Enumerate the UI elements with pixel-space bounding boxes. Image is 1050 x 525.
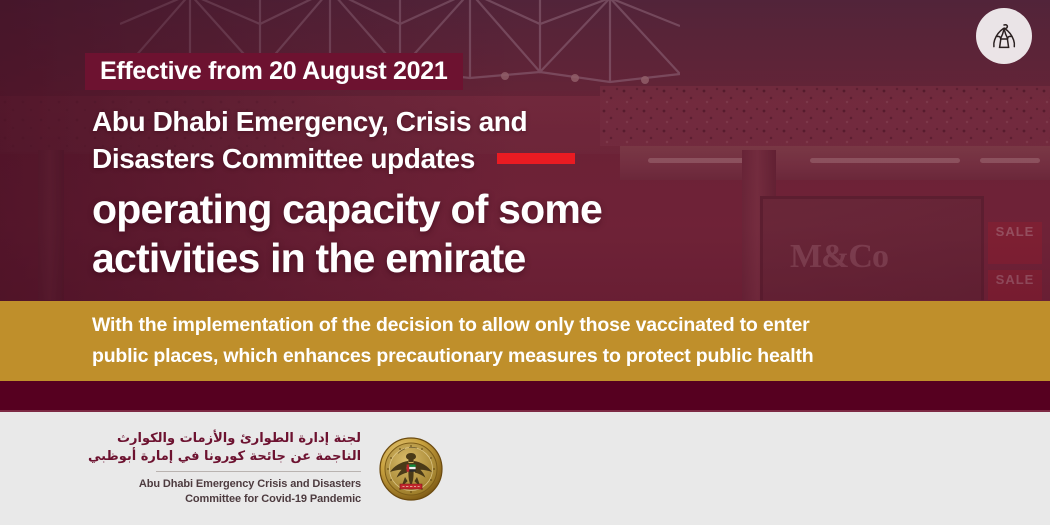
- poster-canvas: M&Co SALE SALE Effective from 20 August …: [0, 0, 1050, 525]
- committee-name-english-line-2: Committee for Covid-19 Pandemic: [88, 492, 361, 507]
- committee-name-english-line-1: Abu Dhabi Emergency Crisis and Disasters: [88, 477, 361, 492]
- maroon-divider-strip: [0, 381, 1050, 411]
- footer-bar: لجنة إدارة الطوارئ والأزمات والكوارث الن…: [0, 412, 1050, 525]
- subtitle-line-1: Abu Dhabi Emergency, Crisis and: [92, 103, 832, 140]
- gold-band-text: With the implementation of the decision …: [92, 310, 992, 372]
- effective-date-banner: Effective from 20 August 2021: [85, 53, 463, 90]
- committee-name-arabic-line-1: لجنة إدارة الطوارئ والأزمات والكوارث: [88, 430, 361, 448]
- footer-divider-rule: [156, 471, 361, 472]
- main-headline-line-2: activities in the emirate: [92, 234, 832, 283]
- main-headline-line-1: operating capacity of some: [92, 185, 832, 234]
- subtitle-line-2: Disasters Committee updates: [92, 140, 475, 177]
- subtitle-line-2-row: Disasters Committee updates: [92, 140, 832, 177]
- uae-emblem-icon: [379, 437, 443, 501]
- headline-block: Abu Dhabi Emergency, Crisis and Disaster…: [92, 103, 832, 283]
- gold-band-line-1: With the implementation of the decision …: [92, 310, 992, 341]
- falcon-logo-icon: [976, 8, 1032, 64]
- committee-name-block: لجنة إدارة الطوارئ والأزمات والكوارث الن…: [88, 430, 373, 507]
- gold-band-line-2: public places, which enhances precaution…: [92, 341, 992, 372]
- gold-message-band: With the implementation of the decision …: [0, 301, 1050, 381]
- committee-name-arabic-line-2: الناجمة عن جائحة كورونا في إمارة أبوظبي: [88, 448, 361, 466]
- effective-date-text: Effective from 20 August 2021: [100, 57, 447, 86]
- footer-lockup: لجنة إدارة الطوارئ والأزمات والكوارث الن…: [88, 430, 443, 507]
- falcon-mark-icon: [986, 18, 1022, 54]
- red-dash-accent-icon: [497, 153, 575, 164]
- main-headline-block: operating capacity of some activities in…: [92, 185, 832, 283]
